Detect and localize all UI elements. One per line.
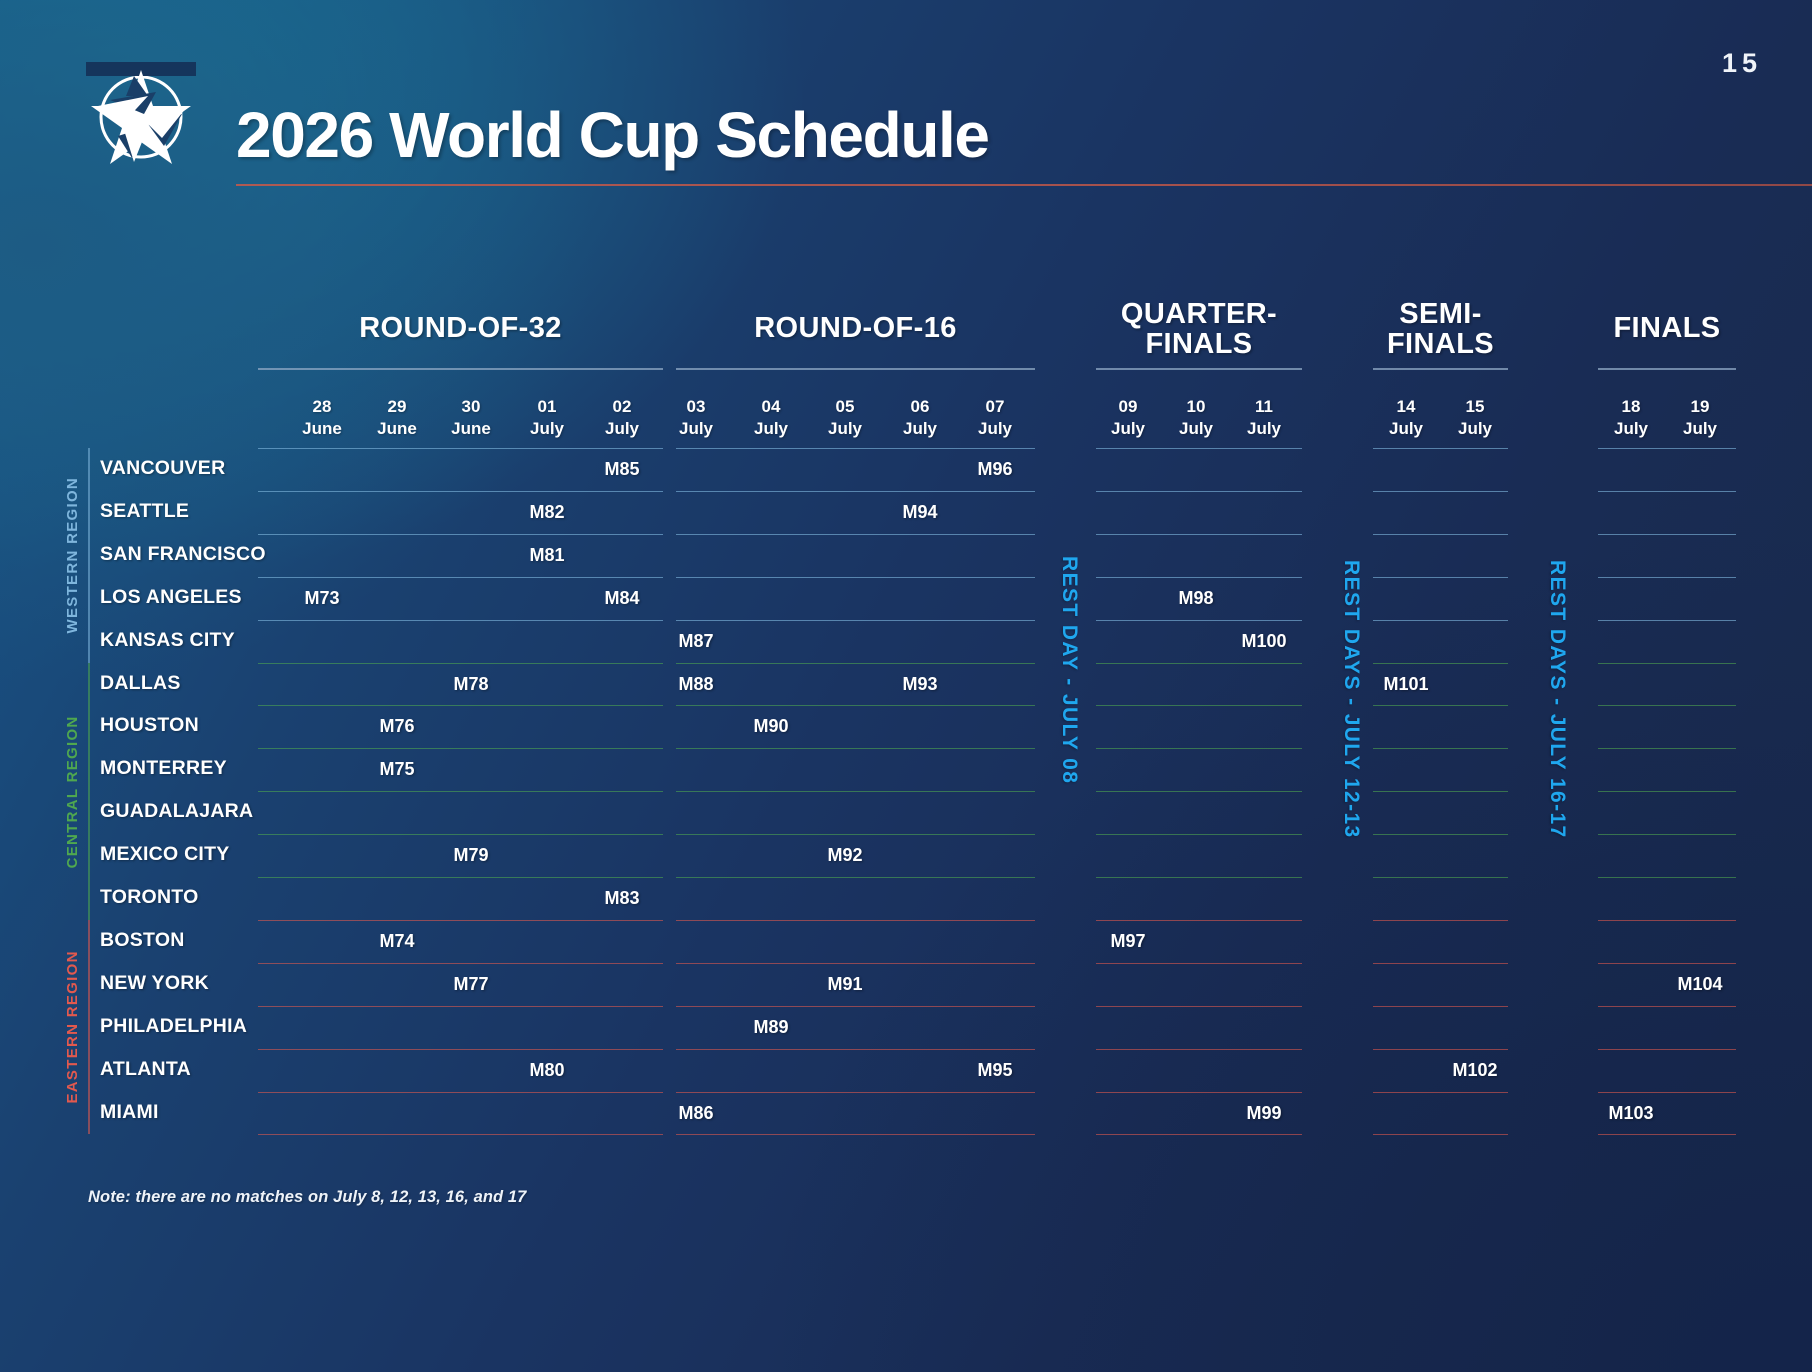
city-label: BOSTON [100,929,185,952]
row-separator [258,877,663,878]
row-separator [1096,620,1302,621]
rest-day-label-2: REST DAYS - JULY 12-13 [1339,560,1363,839]
stage-heading-r32: ROUND-OF-32 [258,314,663,344]
match-cell: M101 [1356,674,1456,695]
row-separator [1373,1092,1508,1093]
region-label-western: WESTERN REGION [64,448,81,663]
row-separator [1598,834,1736,835]
date-day: 30 [427,396,515,418]
city-label: GUADALAJARA [100,800,253,823]
stage-heading-final: FINALS [1598,314,1736,344]
match-cell: M90 [721,716,821,737]
city-label: NEW YORK [100,972,209,995]
stage-heading-rule-final [1598,368,1736,370]
row-separator [258,620,663,621]
match-cell: M76 [347,716,447,737]
match-cell: M98 [1146,588,1246,609]
row-separator [258,448,663,449]
row-separator [676,448,1035,449]
row-separator [1373,705,1508,706]
stage-heading-line: QUARTER- [1121,298,1277,330]
row-separator [676,534,1035,535]
row-separator [1598,620,1736,621]
region-bar-western [88,448,90,663]
stage-heading-rule-r32 [258,368,663,370]
city-label: TORONTO [100,886,199,909]
row-separator [1096,963,1302,964]
row-separator [1373,620,1508,621]
stage-heading-qf: QUARTER-FINALS [1096,300,1302,359]
row-separator [1373,1049,1508,1050]
stage-heading-rule-qf [1096,368,1302,370]
match-cell: M99 [1214,1103,1314,1124]
row-separator [676,1134,1035,1135]
city-label: LOS ANGELES [100,586,242,609]
row-separator [676,791,1035,792]
match-cell: M86 [646,1103,746,1124]
row-separator [1373,534,1508,535]
stage-heading-line: FINALS [1613,312,1720,344]
match-cell: M96 [945,459,1045,480]
date-column-header: 07July [951,396,1039,440]
city-label: HOUSTON [100,714,199,737]
page-title: 2026 World Cup Schedule [236,98,989,172]
row-separator [1598,748,1736,749]
stage-heading-rule-sf [1373,368,1508,370]
match-cell: M102 [1425,1060,1525,1081]
region-label-central: CENTRAL REGION [64,663,81,920]
row-separator [1096,748,1302,749]
city-label: SAN FRANCISCO [100,543,266,566]
date-day: 07 [951,396,1039,418]
row-separator [1598,448,1736,449]
stage-heading-rule-r16 [676,368,1035,370]
row-separator [676,748,1035,749]
city-label: MIAMI [100,1101,159,1124]
row-separator [258,748,663,749]
city-label: DALLAS [100,672,181,695]
city-label: ATLANTA [100,1058,191,1081]
stage-heading-line: FINALS [1387,328,1494,360]
stage-heading-line: SEMI- [1399,298,1482,330]
footnote: Note: there are no matches on July 8, 12… [88,1188,526,1207]
row-separator [258,663,663,664]
row-separator [676,1092,1035,1093]
row-separator [1096,877,1302,878]
stage-heading-sf: SEMI-FINALS [1373,300,1508,359]
match-cell: M79 [421,845,521,866]
row-separator [258,1134,663,1135]
row-separator [676,705,1035,706]
row-separator [1096,1006,1302,1007]
row-separator [1373,577,1508,578]
row-separator [1096,1134,1302,1135]
row-separator [1096,577,1302,578]
row-separator [258,920,663,921]
date-column-header: 19July [1656,396,1744,440]
stage-heading-line: ROUND-OF-32 [359,312,562,344]
row-separator [1598,663,1736,664]
date-month: July [951,418,1039,440]
row-separator [1373,920,1508,921]
row-separator [1598,920,1736,921]
match-cell: M103 [1581,1103,1681,1124]
stage-heading-r16: ROUND-OF-16 [676,314,1035,344]
row-separator [1096,1049,1302,1050]
date-month: July [1656,418,1744,440]
row-separator [1373,663,1508,664]
row-separator [1598,963,1736,964]
region-bar-central [88,663,90,920]
row-separator [258,963,663,964]
schedule-page: 15 2026 World Cup Schedule ROUND-OF-32RO… [0,0,1812,1372]
row-separator [1096,834,1302,835]
row-separator [1598,1049,1736,1050]
row-separator [1373,1006,1508,1007]
row-separator [1096,1092,1302,1093]
row-separator [1598,577,1736,578]
row-separator [676,1006,1035,1007]
row-separator [258,834,663,835]
city-label: PHILADELPHIA [100,1015,247,1038]
date-day: 19 [1656,396,1744,418]
match-cell: M97 [1078,931,1178,952]
row-separator [258,1092,663,1093]
date-month: June [427,418,515,440]
date-month: July [1220,418,1308,440]
match-cell: M95 [945,1060,1045,1081]
date-day: 11 [1220,396,1308,418]
row-separator [676,1049,1035,1050]
match-cell: M94 [870,502,970,523]
match-cell: M93 [870,674,970,695]
row-separator [1598,1092,1736,1093]
row-separator [1598,877,1736,878]
row-separator [676,877,1035,878]
date-column-header: 11July [1220,396,1308,440]
row-separator [1373,791,1508,792]
row-separator [1096,534,1302,535]
row-separator [1598,705,1736,706]
match-cell: M77 [421,974,521,995]
row-separator [258,534,663,535]
row-separator [258,791,663,792]
row-separator [1373,963,1508,964]
match-cell: M73 [272,588,372,609]
date-month: July [1431,418,1519,440]
match-cell: M87 [646,631,746,652]
match-cell: M104 [1650,974,1750,995]
region-label-eastern: EASTERN REGION [64,920,81,1135]
row-separator [676,577,1035,578]
rest-day-label-1: REST DAY - JULY 08 [1057,556,1081,784]
row-separator [1373,1134,1508,1135]
date-column-header: 15July [1431,396,1519,440]
city-label: KANSAS CITY [100,629,235,652]
match-cell: M74 [347,931,447,952]
page-number: 15 [1722,48,1762,79]
row-separator [676,834,1035,835]
match-cell: M75 [347,759,447,780]
row-separator [1096,448,1302,449]
stage-heading-line: FINALS [1145,328,1252,360]
match-cell: M84 [572,588,672,609]
row-separator [676,491,1035,492]
row-separator [1373,448,1508,449]
row-separator [676,920,1035,921]
rest-day-label-3: REST DAYS - JULY 16-17 [1545,560,1569,839]
row-separator [258,705,663,706]
row-separator [1096,705,1302,706]
title-underline-rule [236,184,1812,186]
row-separator [258,491,663,492]
match-cell: M92 [795,845,895,866]
row-separator [1096,663,1302,664]
match-cell: M80 [497,1060,597,1081]
match-cell: M81 [497,545,597,566]
row-separator [1598,534,1736,535]
date-column-header: 30June [427,396,515,440]
row-separator [258,1006,663,1007]
city-label: MEXICO CITY [100,843,230,866]
row-separator [676,963,1035,964]
match-cell: M91 [795,974,895,995]
row-separator [1096,491,1302,492]
match-cell: M89 [721,1017,821,1038]
row-separator [1373,877,1508,878]
match-cell: M85 [572,459,672,480]
row-separator [1598,1006,1736,1007]
row-separator [1373,748,1508,749]
match-cell: M82 [497,502,597,523]
star-swoosh-logo-icon [86,62,196,172]
stage-heading-line: ROUND-OF-16 [754,312,957,344]
region-bar-eastern [88,920,90,1135]
row-separator [1373,834,1508,835]
row-separator [676,663,1035,664]
row-separator [676,620,1035,621]
match-cell: M78 [421,674,521,695]
row-separator [1096,920,1302,921]
city-label: VANCOUVER [100,457,225,480]
row-separator [1598,1134,1736,1135]
row-separator [1096,791,1302,792]
row-separator [258,1049,663,1050]
row-separator [1598,491,1736,492]
row-separator [1598,791,1736,792]
row-separator [258,577,663,578]
date-day: 15 [1431,396,1519,418]
row-separator [1373,491,1508,492]
city-label: MONTERREY [100,757,227,780]
city-label: SEATTLE [100,500,189,523]
match-cell: M88 [646,674,746,695]
match-cell: M83 [572,888,672,909]
match-cell: M100 [1214,631,1314,652]
